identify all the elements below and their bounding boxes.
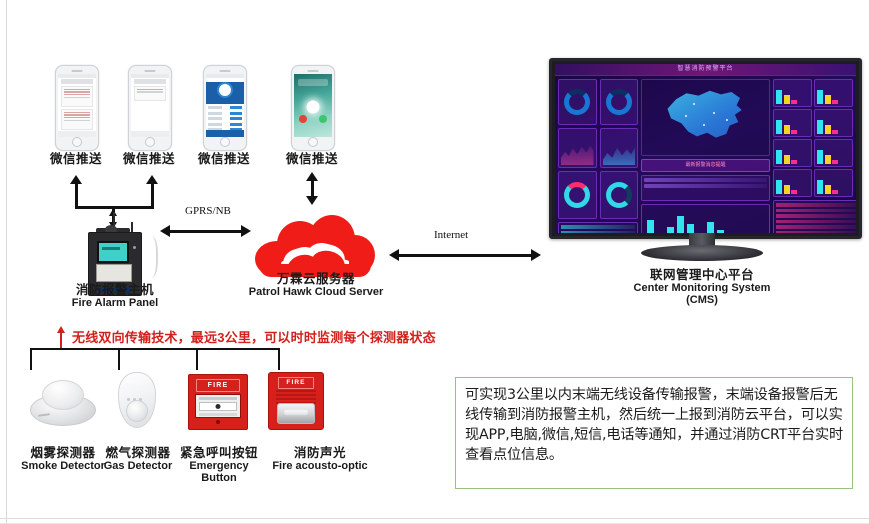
phone-home-button: [220, 137, 230, 147]
dashboard-right-column: [773, 79, 853, 233]
gprs-link-label: GPRS/NB: [185, 205, 231, 217]
cloud-server-icon: [255, 215, 375, 277]
arrow-down-phone4-to-cloud: [306, 196, 318, 205]
monitor-base: [641, 245, 763, 261]
description-note-text: 可实现3公里以内末端无线设备传输报警，末端设备报警后无线传输到消防报警主机，然后…: [456, 378, 852, 466]
china-map-chart: [641, 79, 770, 156]
arrow-up-to-panel-brace: [57, 326, 65, 333]
phone-screen-2: [131, 74, 169, 137]
smoke-detector-device: [30, 378, 94, 424]
description-note-box: 可实现3公里以内末端无线设备传输报警，末端设备报警后无线传输到消防报警主机，然后…: [455, 377, 853, 489]
panel-status-led: [133, 246, 136, 249]
line-gprs: [169, 230, 243, 233]
phone-earpiece-icon: [145, 70, 156, 72]
cloud-server-label: 万霖云服务器 Patrol Hawk Cloud Server: [246, 272, 386, 298]
line-brace-stem: [60, 333, 62, 349]
panel-keypad-cover: [96, 264, 132, 282]
line-internet: [398, 254, 533, 257]
fire-acousto-optic-device: FIRE: [268, 372, 324, 430]
dashboard-alert-banner: 最新报警消息提醒: [641, 159, 770, 172]
phone-home-button: [72, 137, 82, 147]
acousto-fire-marking: FIRE: [278, 377, 314, 389]
gauge-donut-1: [564, 89, 590, 115]
line-phone1-riser: [75, 183, 78, 208]
dashboard-list-left: [558, 222, 638, 233]
cms-label: 联网管理中心平台 Center Monitoring System (CMS): [632, 268, 772, 307]
emergency-fire-marking: FIRE: [196, 379, 240, 392]
phone-label-3: 微信推送: [178, 152, 270, 166]
emergency-button-label: 紧急呼叫按钮 Emergency Button: [171, 446, 267, 485]
phone-screen-4: [294, 74, 332, 137]
gas-detector-device: [118, 372, 156, 428]
document-edge-left: [6, 0, 7, 524]
internet-link-label: Internet: [434, 229, 468, 241]
gauge-donut-2: [606, 89, 632, 115]
panel-cable: [142, 236, 158, 278]
phone-earpiece-icon: [308, 70, 319, 72]
phone-earpiece-icon: [220, 70, 231, 72]
phone-wechat-push-1: [55, 65, 99, 151]
dashboard-message-ticker: [641, 175, 770, 201]
phone-wechat-push-3: [203, 65, 247, 151]
sparkline-chart-2: [603, 141, 636, 165]
dashboard-screen: 智慧消防预警平台: [555, 64, 856, 233]
dashboard-left-column: [558, 79, 638, 233]
dashboard-list-right: [773, 200, 856, 233]
line-phone2-riser: [151, 183, 154, 208]
phone-label-4: 微信推送: [266, 152, 358, 166]
document-edge-bottom: [0, 518, 869, 519]
accept-call-icon: [319, 115, 327, 123]
decline-call-icon: [299, 115, 307, 123]
dashboard-device-grid: [773, 79, 853, 197]
arrow-right-gprs: [241, 225, 251, 237]
dashboard-center-column: 最新报警消息提醒: [641, 79, 770, 233]
emergency-break-glass-window: [195, 394, 241, 418]
phone-home-button: [308, 137, 318, 147]
strobe-lens: [277, 403, 315, 424]
emergency-reset-hole: [216, 420, 220, 424]
dashboard-title: 智慧消防预警平台: [555, 64, 856, 76]
arrow-right-internet: [531, 249, 541, 261]
panel-lcd-screen: [97, 241, 129, 263]
sounder-grill: [276, 390, 316, 404]
phone-earpiece-icon: [72, 70, 83, 72]
cms-monitor: 智慧消防预警平台: [549, 58, 862, 239]
phone-wechat-push-4: [291, 65, 335, 151]
phone-screen-1: [58, 74, 96, 137]
fire-alarm-panel-label: 消防报警主机 Fire Alarm Panel: [55, 283, 175, 309]
phone-home-button: [145, 137, 155, 147]
wireless-annotation-text: 无线双向传输技术，最远3公里，可以时时监测每个探测器状态: [72, 327, 436, 346]
gauge-donut-3: [564, 182, 590, 208]
emergency-button-device: FIRE: [188, 374, 248, 430]
gauge-donut-4: [606, 182, 632, 208]
phone-wechat-push-2: [128, 65, 172, 151]
incoming-call-indicator: [307, 100, 320, 113]
phone-screen-3: [206, 74, 244, 137]
dashboard-bar-chart: [641, 204, 770, 233]
fire-acousto-optic-label: 消防声光 Fire acousto-optic: [265, 446, 375, 472]
sparkline-chart-1: [561, 141, 594, 165]
cloud-logo-mark: [281, 238, 349, 264]
diagram-canvas: 微信推送 微信推送 微信推送: [0, 0, 869, 524]
